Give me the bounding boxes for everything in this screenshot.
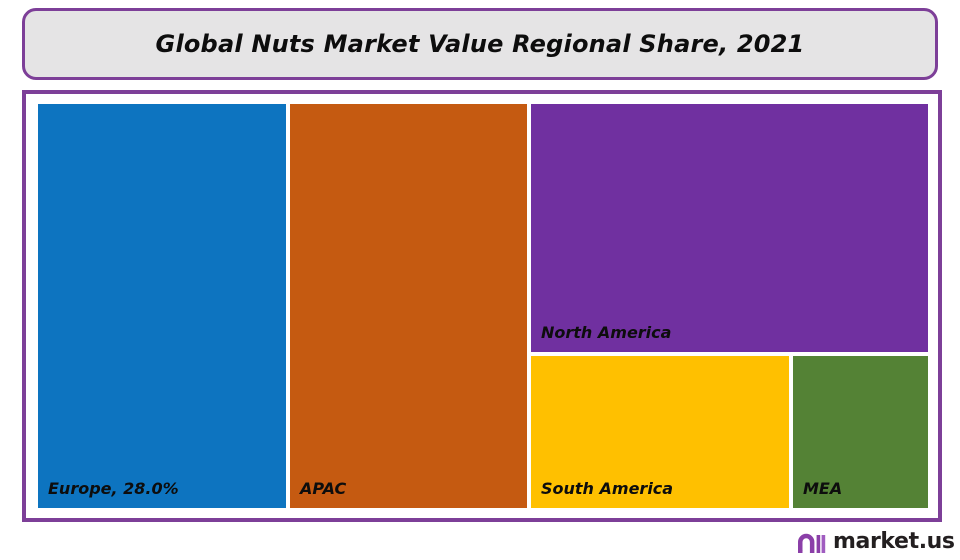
treemap-tile-label: APAC <box>300 480 346 498</box>
treemap-tile[interactable]: APAC <box>290 104 527 508</box>
treemap-tile[interactable]: MEA <box>793 356 928 508</box>
treemap-tile-label: MEA <box>803 480 842 498</box>
treemap-tile-label: North America <box>541 324 671 342</box>
chart-title-banner: Global Nuts Market Value Regional Share,… <box>22 8 938 80</box>
market-us-logo-text: market.us <box>833 531 955 553</box>
treemap-plot-area: Europe, 28.0%APACNorth AmericaSouth Amer… <box>26 94 938 518</box>
page-title: Global Nuts Market Value Regional Share,… <box>156 30 805 58</box>
treemap-tile-label: Europe, 28.0% <box>48 480 179 498</box>
treemap-tile[interactable]: South America <box>531 356 789 508</box>
treemap-chart-frame: Europe, 28.0%APACNorth AmericaSouth Amer… <box>22 90 942 522</box>
treemap-tile-label: South America <box>541 480 673 498</box>
treemap-tile[interactable]: Europe, 28.0% <box>38 104 286 508</box>
market-us-bars-logo-icon <box>796 530 826 554</box>
market-us-logo: market.us <box>796 528 955 556</box>
chart-page: Global Nuts Market Value Regional Share,… <box>0 0 960 560</box>
treemap-tile[interactable]: North America <box>531 104 928 352</box>
